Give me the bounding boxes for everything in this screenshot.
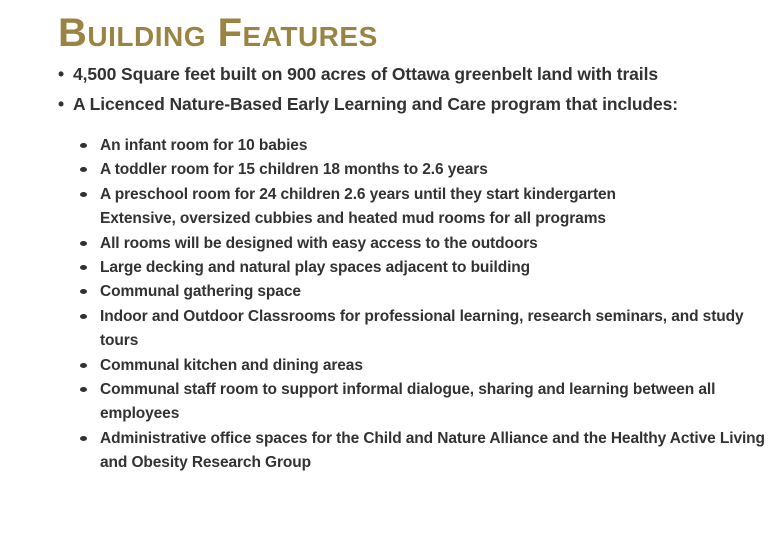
list-item: • 4,500 Square feet built on 900 acres o…	[0, 62, 768, 87]
list-item: Indoor and Outdoor Classrooms for profes…	[0, 305, 768, 354]
list-item-text: A toddler room for 15 children 18 months…	[100, 158, 768, 182]
bullet-point-icon	[80, 387, 87, 392]
bullet-point-icon	[80, 192, 87, 197]
list-item-text: All rooms will be designed with easy acc…	[100, 232, 768, 256]
list-item: A preschool room for 24 children 2.6 yea…	[0, 183, 768, 232]
bullet-point-icon	[80, 436, 87, 441]
list-item-text: 4,500 Square feet built on 900 acres of …	[73, 62, 768, 87]
list-item: Communal staff room to support informal …	[0, 378, 768, 427]
list-item: Communal kitchen and dining areas	[0, 354, 768, 378]
page-title: Building Features	[58, 11, 378, 55]
primary-bullet-list: • 4,500 Square feet built on 900 acres o…	[0, 62, 768, 116]
list-item-text: Communal kitchen and dining areas	[100, 354, 768, 378]
list-item: Communal gathering space	[0, 280, 768, 304]
bullet-point-icon	[80, 289, 87, 294]
slide-canvas: Building Features • 4,500 Square feet bu…	[0, 0, 768, 540]
list-item-text: Large decking and natural play spaces ad…	[100, 256, 768, 280]
list-item-text: Communal staff room to support informal …	[100, 378, 768, 427]
bullet-point-icon	[80, 143, 87, 148]
list-item: • A Licenced Nature-Based Early Learning…	[0, 92, 768, 117]
secondary-bullet-list: An infant room for 10 babies A toddler r…	[0, 134, 768, 476]
bullet-point-icon	[80, 314, 87, 319]
bullet-point-icon	[80, 167, 87, 172]
bullet-point-icon	[80, 265, 87, 270]
list-item-text: Communal gathering space	[100, 280, 768, 304]
bullet-point-icon	[80, 241, 87, 246]
list-item-text-continuation: Extensive, oversized cubbies and heated …	[100, 207, 768, 231]
bullet-point-icon: •	[58, 92, 68, 117]
list-item: All rooms will be designed with easy acc…	[0, 232, 768, 256]
list-item-text: Indoor and Outdoor Classrooms for profes…	[100, 305, 768, 354]
list-item: A toddler room for 15 children 18 months…	[0, 158, 768, 182]
bullet-point-icon	[80, 363, 87, 368]
list-item-text: Administrative office spaces for the Chi…	[100, 427, 768, 476]
list-item: Administrative office spaces for the Chi…	[0, 427, 768, 476]
list-item-text: A preschool room for 24 children 2.6 yea…	[100, 183, 768, 207]
list-item: An infant room for 10 babies	[0, 134, 768, 158]
list-item-text: A Licenced Nature-Based Early Learning a…	[73, 92, 768, 117]
list-item-text: An infant room for 10 babies	[100, 134, 768, 158]
bullet-point-icon: •	[58, 62, 68, 87]
content-body: • 4,500 Square feet built on 900 acres o…	[0, 62, 768, 476]
list-item: Large decking and natural play spaces ad…	[0, 256, 768, 280]
